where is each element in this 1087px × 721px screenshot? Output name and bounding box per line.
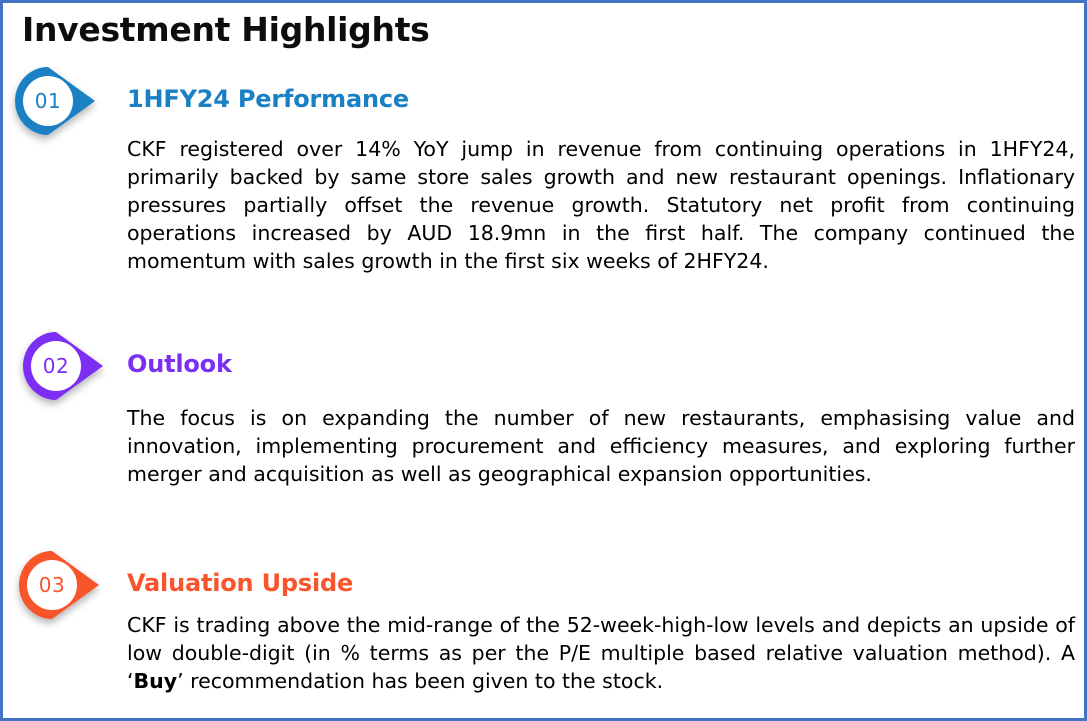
pin-badge-02: 02 [21, 330, 117, 402]
section-heading-02: Outlook [127, 350, 232, 378]
pin-badge-icon [21, 330, 117, 402]
section-heading-03: Valuation Upside [127, 569, 353, 597]
section-heading-01: 1HFY24 Performance [127, 85, 409, 113]
section-body-02: The focus is on expanding the number of … [127, 404, 1075, 488]
pin-badge-icon [17, 549, 113, 621]
pin-badge-icon [13, 65, 109, 137]
pin-badge-03: 03 [17, 549, 113, 621]
section-body-01: CKF registered over 14% YoY jump in reve… [127, 135, 1075, 275]
pin-badge-01: 01 [13, 65, 109, 137]
investment-highlights-slide: Investment Highlights 01 1HFY24 Performa… [0, 0, 1087, 721]
page-title: Investment Highlights [22, 9, 430, 51]
section-body-03: CKF is trading above the mid-range of th… [127, 611, 1075, 695]
